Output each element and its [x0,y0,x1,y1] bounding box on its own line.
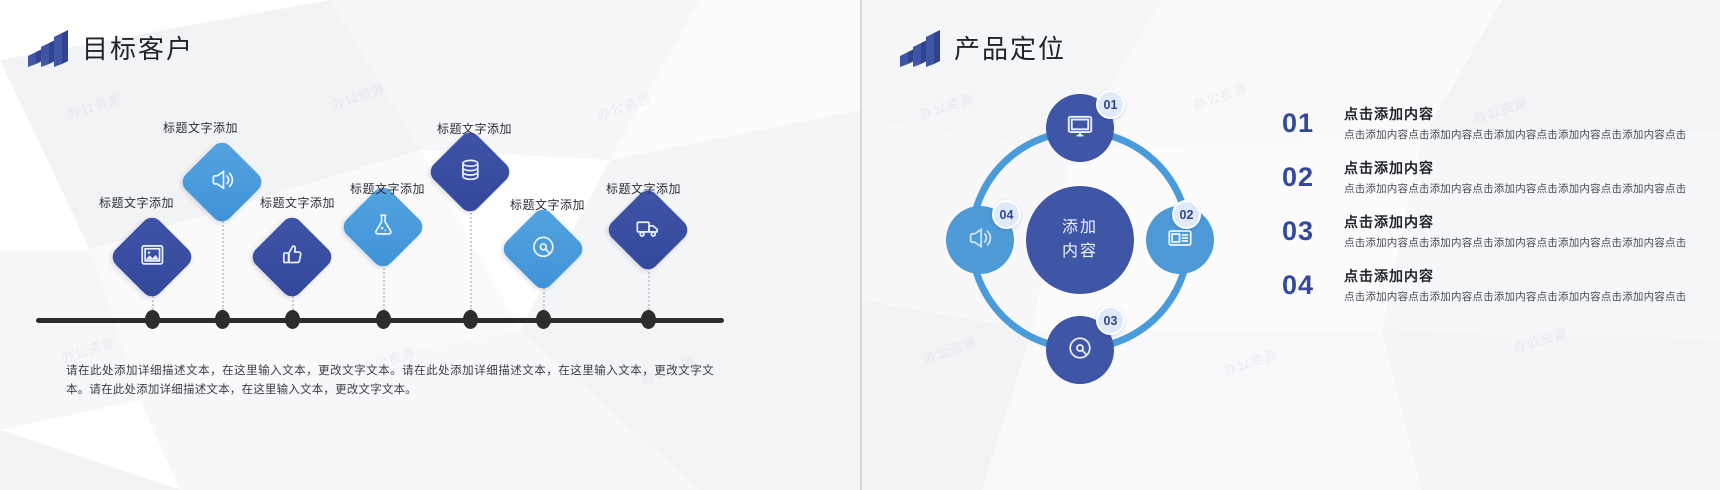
diagram-badge-03: 03 [1096,306,1125,335]
list-item-title: 点击添加内容 [1344,158,1702,178]
timeline-dot[interactable] [215,310,230,329]
list-item-number: 01 [1282,104,1328,143]
list-item[interactable]: 03 点击添加内容 点击添加内容点击添加内容点击添加内容点击添加内容点击添加内容… [1282,212,1702,251]
timeline-label-2: 标题文字添加 [163,119,238,136]
timeline-label-1: 标题文字添加 [99,194,174,211]
timeline-dot[interactable] [285,310,300,329]
timeline-label-6: 标题文字添加 [510,196,585,213]
database-icon [457,156,484,188]
content-list: 01 点击添加内容 点击添加内容点击添加内容点击添加内容点击添加内容点击添加内容… [1282,104,1702,320]
diamond-shape[interactable] [248,213,336,301]
megaphone-icon [966,224,994,257]
timeline-node-1[interactable] [121,226,183,288]
timeline-node-4[interactable] [352,196,414,258]
center-line-2: 内容 [1062,240,1098,264]
list-item-number: 02 [1282,158,1328,197]
timeline-dot[interactable] [641,310,656,329]
list-item-number: 03 [1282,212,1328,251]
list-item-desc: 点击添加内容点击添加内容点击添加内容点击添加内容点击添加内容点击 [1344,128,1702,143]
timeline-node-3[interactable] [261,226,323,288]
list-item[interactable]: 02 点击添加内容 点击添加内容点击添加内容点击添加内容点击添加内容点击添加内容… [1282,158,1702,197]
list-item[interactable]: 01 点击添加内容 点击添加内容点击添加内容点击添加内容点击添加内容点击添加内容… [1282,104,1702,143]
diamond-shape[interactable] [426,128,514,216]
megaphone-icon [209,166,236,198]
timeline-node-5[interactable] [439,141,501,203]
flask-icon [370,211,397,243]
list-item[interactable]: 04 点击添加内容 点击添加内容点击添加内容点击添加内容点击添加内容点击添加内容… [1282,266,1702,305]
list-item-desc: 点击添加内容点击添加内容点击添加内容点击添加内容点击添加内容点击 [1344,236,1702,251]
watermark: 办公资源 [1510,322,1569,357]
timeline-node-2[interactable] [191,151,253,213]
timeline-node-7[interactable] [617,199,679,261]
list-item-title: 点击添加内容 [1344,212,1702,232]
thumbs-up-icon [279,241,306,273]
timeline-dot[interactable] [376,310,391,329]
diagram-badge-02: 02 [1172,200,1201,229]
center-line-1: 添加 [1062,216,1098,240]
monitor-icon [1065,111,1095,146]
timeline-label-7: 标题文字添加 [606,180,681,197]
slide-header: 产品定位 [896,26,1066,68]
page-title: 产品定位 [954,29,1066,66]
disc-icon [1066,334,1094,367]
timeline-label-5: 标题文字添加 [437,120,512,137]
image-icon [139,241,166,273]
list-item-title: 点击添加内容 [1344,104,1702,124]
slide-product-positioning: 办公资源 办公资源 办公资源 办公资源 办公资源 办公资源 产品定位 [860,0,1720,490]
list-item-desc: 点击添加内容点击添加内容点击添加内容点击添加内容点击添加内容点击 [1344,182,1702,197]
timeline-node-6[interactable] [512,218,574,280]
center-label: 添加 内容 [1026,186,1134,294]
timeline-dot[interactable] [536,310,551,329]
timeline-label-3: 标题文字添加 [260,194,335,211]
list-item-title: 点击添加内容 [1344,266,1702,286]
disc-icon [530,233,557,265]
timeline-dot[interactable] [463,310,478,329]
diamond-shape[interactable] [604,186,692,274]
diamond-shape[interactable] [108,213,196,301]
slide-target-customers: 办公资源 办公资源 办公资源 办公资源 办公资源 办公资源 目标客户 [0,0,860,490]
list-item-number: 04 [1282,266,1328,305]
diamond-shape[interactable] [178,138,266,226]
list-item-desc: 点击添加内容点击添加内容点击添加内容点击添加内容点击添加内容点击 [1344,290,1702,305]
timeline-label-4: 标题文字添加 [350,180,425,197]
diamond-timeline: 标题文字添加 标题文字添加 [0,0,860,490]
bar-chart-icon [896,26,940,68]
timeline-dot[interactable] [145,310,160,329]
diagram-badge-01: 01 [1096,90,1125,119]
slide-pair: 办公资源 办公资源 办公资源 办公资源 办公资源 办公资源 目标客户 [0,0,1720,490]
truck-icon [635,214,662,246]
circular-diagram: 添加 内容 01 [892,90,1272,390]
description-paragraph: 请在此处添加详细描述文本，在这里输入文本，更改文字文本。请在此处添加详细描述文本… [66,362,714,400]
diamond-shape[interactable] [499,205,587,293]
diagram-badge-04: 04 [992,200,1021,229]
